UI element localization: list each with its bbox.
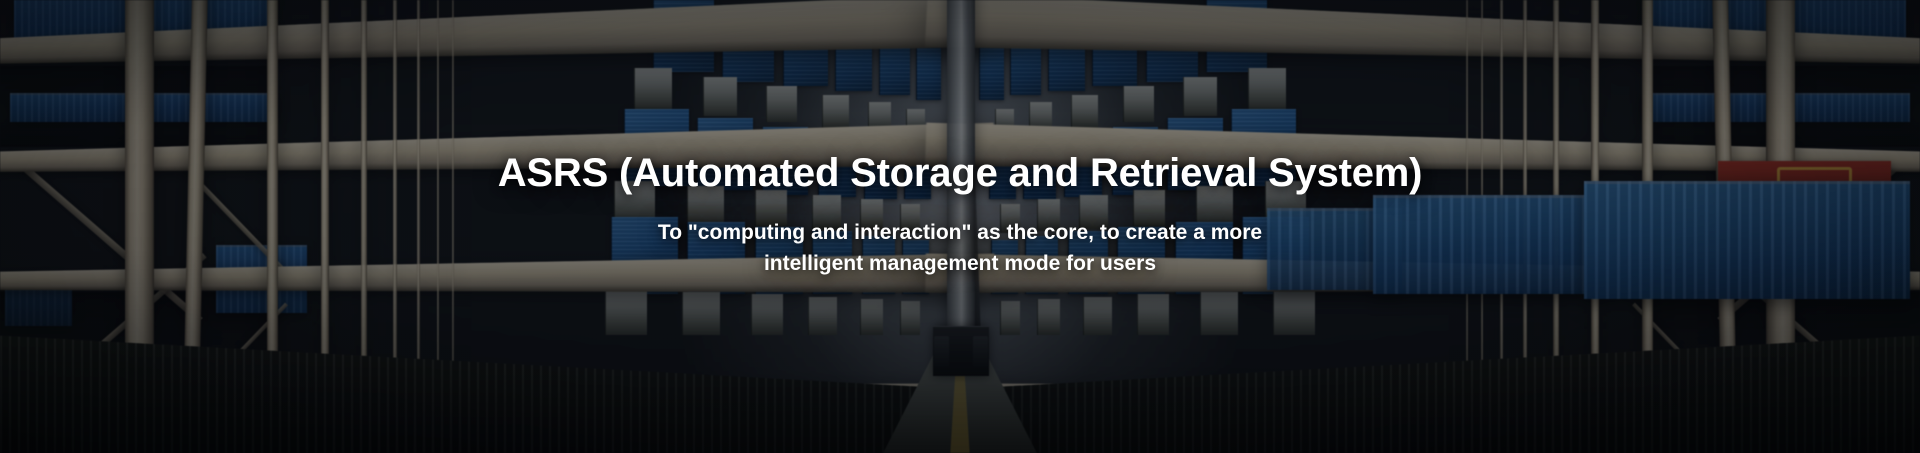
banner-title: ASRS (Automated Storage and Retrieval Sy…: [498, 150, 1423, 196]
hero-banner: ASRS (Automated Storage and Retrieval Sy…: [0, 0, 1920, 453]
banner-subtitle: To "computing and interaction" as the co…: [650, 218, 1270, 279]
banner-caption: ASRS (Automated Storage and Retrieval Sy…: [0, 0, 1920, 453]
